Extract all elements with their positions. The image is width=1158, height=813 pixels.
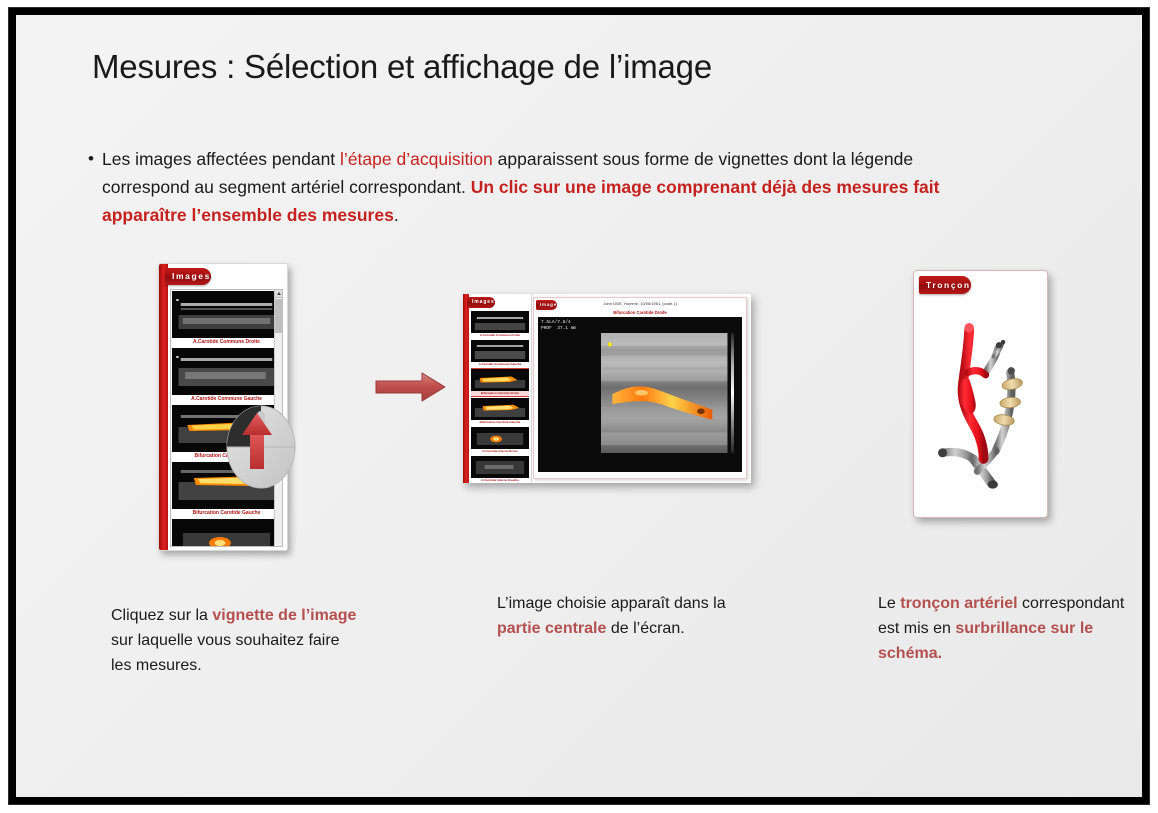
list-item[interactable]: A.Carotide Commune Droite (172, 291, 281, 346)
list-item-label: Bifurcation Carotide Droite (471, 391, 529, 396)
image-viewport[interactable]: 7.5LA/7.8/4 PROF 37.1 mm (538, 317, 742, 472)
list-item[interactable]: A.Carotide Commune Gauche (172, 348, 281, 403)
ultrasound-bmode-icon (172, 291, 281, 338)
list-item[interactable]: A.Carotide Commune Droite (471, 311, 529, 338)
list-item[interactable]: A.Carotide Commune Gauche (471, 340, 529, 367)
selected-image-title: Bifurcation Carotide Droite (534, 310, 746, 315)
ultrasound-doppler-icon (172, 519, 281, 547)
overlay-depth-line: PROF 37.1 mm (541, 326, 576, 332)
images-panel-header: Images (165, 268, 211, 285)
bullet-seg-1: Les images affectées pendant (102, 149, 340, 169)
screenshot-application-window[interactable]: Images A.Carotide Commune Droite (463, 294, 751, 483)
caption-center-highlight: partie centrale (497, 620, 606, 637)
bullet-marker: • (84, 145, 102, 173)
caption-right-part-a: Le (878, 595, 900, 612)
carotid-artery-segment-diagram (920, 297, 1043, 502)
right-arrow-icon (374, 370, 448, 404)
caption-left-part-c: sur laquelle vous souhaitez faire les me… (111, 632, 340, 674)
sidebar-accent-stripe (463, 294, 469, 483)
list-item-label: Bifurcation Carotide Gauche (471, 420, 529, 425)
mouse-left-click-icon (223, 401, 299, 489)
ultrasound-bmode-icon (471, 456, 529, 478)
sidebar-thumbnail-list[interactable]: A.Carotide Commune Droite A.Carotide Com… (471, 311, 529, 481)
ultrasound-doppler-icon (471, 369, 529, 391)
list-item-label: A.Carotide Commune Droite (172, 338, 281, 346)
list-item-label: A.Carotide Interne Gauche (471, 478, 529, 481)
ultrasound-bmode-icon (471, 340, 529, 362)
caption-left: Cliquez sur la vignette de l’image sur l… (111, 603, 361, 678)
caption-center-part-c: de l’écran. (606, 620, 684, 637)
app-main-viewer[interactable]: Image John DOE, Homme, 10/06/1961, [code… (533, 297, 747, 479)
bullet-text: Les images affectées pendant l’étape d’a… (102, 145, 946, 229)
list-item-selected[interactable]: Bifurcation Carotide Droite (471, 369, 529, 396)
ultrasound-doppler-icon (471, 398, 529, 420)
ultrasound-bmode-icon (471, 311, 529, 333)
page-title: Mesures : Sélection et affichage de l’im… (92, 48, 992, 86)
ultrasound-doppler-image (601, 333, 727, 454)
slide-frame: Mesures : Sélection et affichage de l’im… (9, 8, 1149, 804)
bullet-seg-5: . (394, 205, 399, 225)
bullet-seg-acquisition: l’étape d’acquisition (340, 149, 493, 169)
list-item-label: A.Carotide Interne Droite (471, 449, 529, 454)
screenshot-troncon-panel[interactable]: Tronçon (913, 270, 1048, 518)
grayscale-bar (731, 333, 734, 454)
caption-right: Le tronçon artériel correspondant est mi… (878, 591, 1128, 666)
sidebar-header: Images (467, 297, 495, 308)
ultrasound-doppler-icon (471, 427, 529, 449)
slide-root: Mesures : Sélection et affichage de l’im… (0, 0, 1158, 813)
scrollbar-thumb[interactable] (275, 299, 282, 333)
slide-canvas: Mesures : Sélection et affichage de l’im… (16, 15, 1142, 797)
list-item[interactable]: A.Carotide Interne Droite (471, 427, 529, 454)
bullet-paragraph: • Les images affectées pendant l’étape d… (84, 145, 946, 229)
list-item-label: Bifurcation Carotide Gauche (172, 509, 281, 517)
list-item[interactable]: Bifurcation Carotide Gauche (471, 398, 529, 425)
caption-center: L’image choisie apparaît dans la partie … (497, 591, 727, 641)
caption-center-part-a: L’image choisie apparaît dans la (497, 595, 726, 612)
list-item[interactable]: A.Carotide Interne Droite (172, 519, 281, 547)
ultrasound-bmode-icon (172, 348, 281, 395)
list-item-label: A.Carotide Commune Droite (471, 333, 529, 338)
troncon-panel-header: Tronçon (919, 276, 971, 294)
list-item[interactable]: A.Carotide Interne Gauche (471, 456, 529, 481)
caption-right-highlight-1: tronçon artériel (900, 595, 1017, 612)
caption-left-part-a: Cliquez sur la (111, 607, 212, 624)
scroll-up-icon[interactable] (275, 290, 282, 298)
patient-info-line: John DOE, Homme, 10/06/1961, [code 1] (534, 301, 746, 306)
list-item-label: A.Carotide Commune Gauche (471, 362, 529, 367)
panel-accent-stripe (159, 264, 168, 550)
app-sidebar[interactable]: Images A.Carotide Commune Droite (463, 294, 532, 483)
caption-left-highlight: vignette de l’image (212, 607, 356, 624)
